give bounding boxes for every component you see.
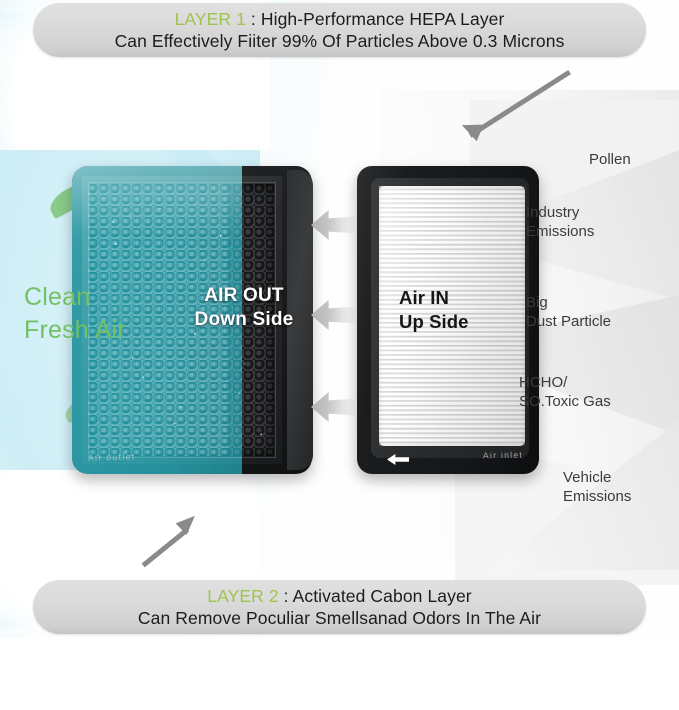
clean-fresh-air-line1: Clean xyxy=(24,283,90,311)
clean-fresh-air-label: Clean Fresh Air xyxy=(24,281,126,347)
label-hcho-toxic-gas: HCHO/ SO.Toxic Gas xyxy=(519,373,611,411)
big-dust-particle-line1: Big xyxy=(526,294,548,311)
label-pollen: Pollen xyxy=(589,150,631,169)
layer-2-banner: LAYER 2 : Activated Cabon Layer Can Remo… xyxy=(33,580,646,634)
air-out-label: AIR OUT Down Side xyxy=(184,284,304,333)
layer-1-subline: Can Effectively Fiiter 99% Of Particles … xyxy=(115,30,565,52)
layer-1-headline: LAYER 1 : High-Performance HEPA Layer xyxy=(175,8,505,30)
label-vehicle-emissions: Vehicle Emissions xyxy=(563,468,631,506)
air-out-line2: Down Side xyxy=(195,309,294,330)
label-big-dust-particle: Big Dust Particle xyxy=(526,293,611,331)
label-industry-emissions: Industry Emissions xyxy=(526,203,594,241)
clean-fresh-air-line2: Fresh Air xyxy=(24,316,126,344)
air-inlet-label: Air inlet xyxy=(483,450,523,461)
big-dust-particle-line2: Dust Particle xyxy=(526,313,611,330)
layer-1-tag: LAYER 1 xyxy=(175,9,246,29)
vehicle-emissions-line2: Emissions xyxy=(563,488,631,505)
hepa-filter: Air inlet Air IN Up Side xyxy=(357,166,539,474)
industry-emissions-line1: Industry xyxy=(526,204,579,221)
industry-emissions-line2: Emissions xyxy=(526,223,594,240)
layer-1-banner: LAYER 1 : High-Performance HEPA Layer Ca… xyxy=(33,3,646,57)
layer-2-headline-rest: : Activated Cabon Layer xyxy=(279,586,472,606)
air-in-label: Air IN Up Side xyxy=(399,286,469,334)
layer-2-headline: LAYER 2 : Activated Cabon Layer xyxy=(207,585,471,607)
hcho-toxic-gas-line1: HCHO/ xyxy=(519,374,567,391)
layer-2-tag: LAYER 2 xyxy=(207,586,278,606)
layer-2-subline: Can Remove Poculiar Smellsanad Odors In … xyxy=(138,607,541,629)
air-outlet-label: Air outlet xyxy=(88,451,136,462)
air-in-line1: Air IN xyxy=(399,287,449,308)
air-in-line2: Up Side xyxy=(399,311,469,332)
air-out-line1: AIR OUT xyxy=(204,285,284,306)
infographic-canvas: Air outlet AIR OUT Down Side Clean Fresh… xyxy=(0,0,679,638)
carbon-filter-gloss xyxy=(72,166,242,236)
hcho-toxic-gas-line2: SO.Toxic Gas xyxy=(519,393,611,410)
pollen-text: Pollen xyxy=(589,151,631,168)
vehicle-emissions-line1: Vehicle xyxy=(563,469,611,486)
layer-1-headline-rest: : High-Performance HEPA Layer xyxy=(246,9,504,29)
